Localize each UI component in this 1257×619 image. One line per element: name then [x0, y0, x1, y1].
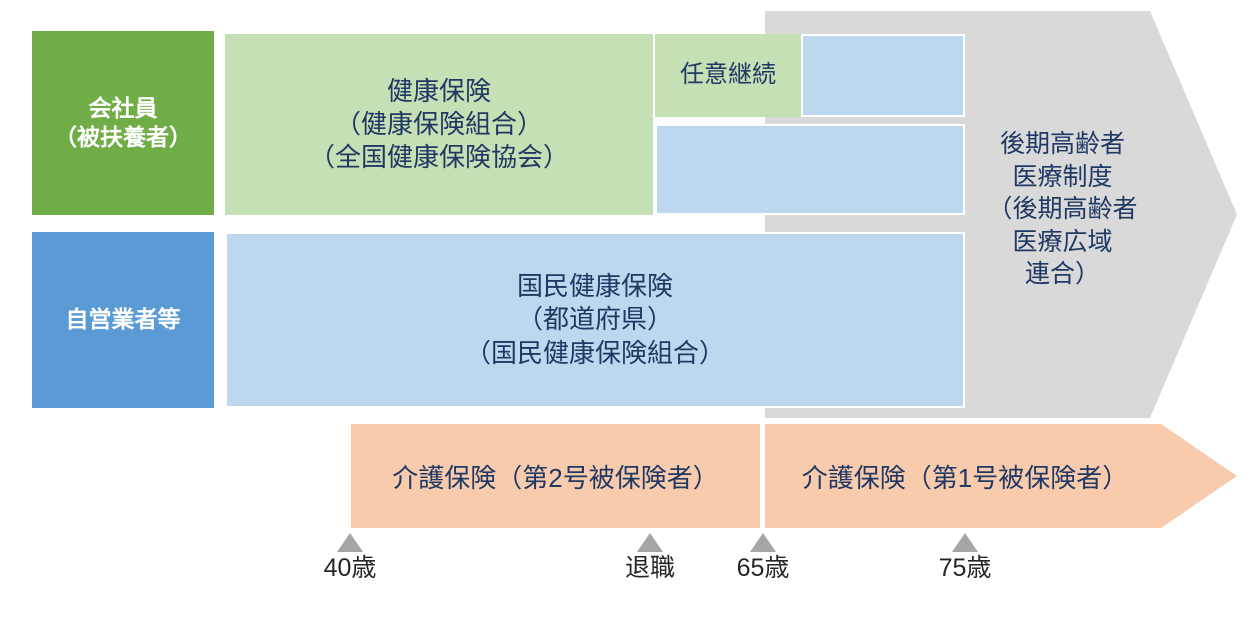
care-insurance-second-category-label: 介護保険（第2号被保険者） — [351, 458, 760, 494]
health-insurance-block: 健康保険 （健康保険組合） （全国健康保険協会） — [225, 34, 653, 215]
timeline-marker-label: 75歳 — [920, 555, 1010, 583]
insurance-coverage-diagram: 後期高齢者 医療制度 （後期高齢者 医療広域 連合） 会社員 （被扶養者） 自営… — [0, 0, 1257, 619]
timeline-marker-age75: 75歳 — [920, 533, 1010, 583]
timeline-marker-age40: 40歳 — [305, 533, 395, 583]
category-label-self-employed: 自営業者等 — [32, 232, 214, 408]
triangle-marker-icon — [637, 533, 663, 552]
late-elderly-medical-label: 後期高齢者 医療制度 （後期高齢者 医療広域 連合） — [975, 128, 1150, 291]
coverage-filler-lower — [655, 124, 965, 215]
triangle-marker-icon — [750, 533, 776, 552]
triangle-marker-icon — [952, 533, 978, 552]
timeline-marker-label: 退職 — [605, 555, 695, 583]
timeline-marker-retirement: 退職 — [605, 533, 695, 583]
timeline-marker-label: 40歳 — [305, 555, 395, 583]
timeline-marker-label: 65歳 — [718, 555, 808, 583]
care-insurance-first-category-label: 介護保険（第1号被保険者） — [765, 458, 1165, 494]
voluntary-continuation-block: 任意継続 — [655, 34, 801, 117]
coverage-filler-upper — [801, 34, 965, 117]
national-health-insurance-block: 国民健康保険 （都道府県） （国民健康保険組合） — [225, 232, 965, 408]
triangle-marker-icon — [337, 533, 363, 552]
timeline-marker-age65: 65歳 — [718, 533, 808, 583]
category-label-employee: 会社員 （被扶養者） — [32, 31, 214, 215]
